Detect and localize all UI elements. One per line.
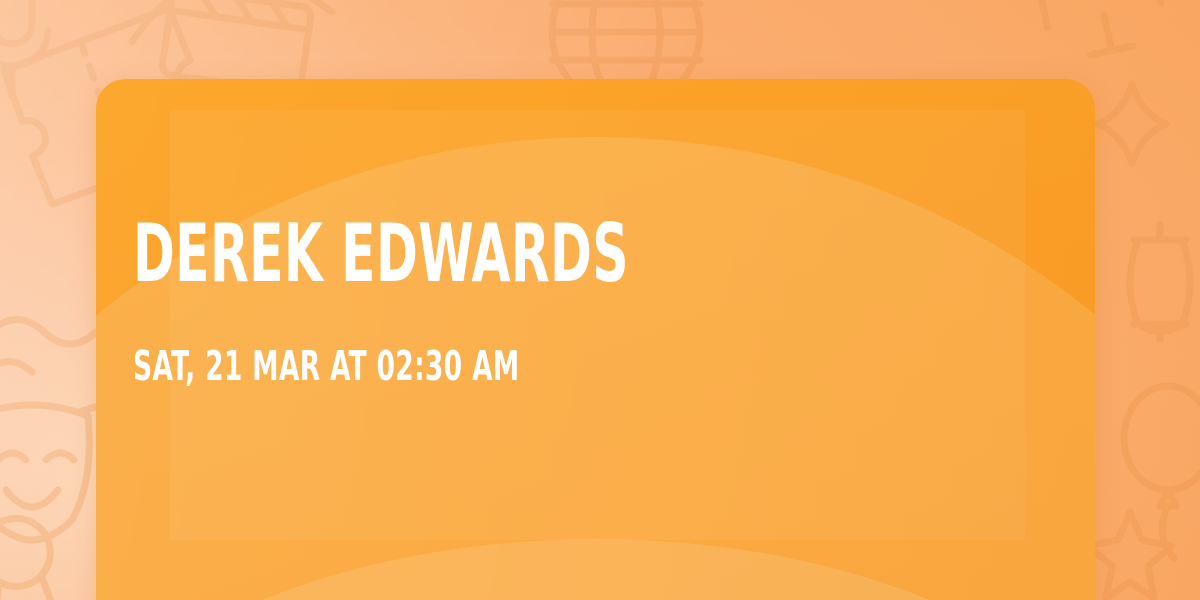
card-tint-overlay [96,79,1095,600]
event-datetime: Sat, 21 Mar at 02:30 AM [133,343,520,389]
event-title: Derek Edwards [133,212,629,296]
event-card[interactable]: Derek Edwards Sat, 21 Mar at 02:30 AM [96,79,1095,600]
event-banner-canvas: Derek Edwards Sat, 21 Mar at 02:30 AM [0,0,1200,600]
